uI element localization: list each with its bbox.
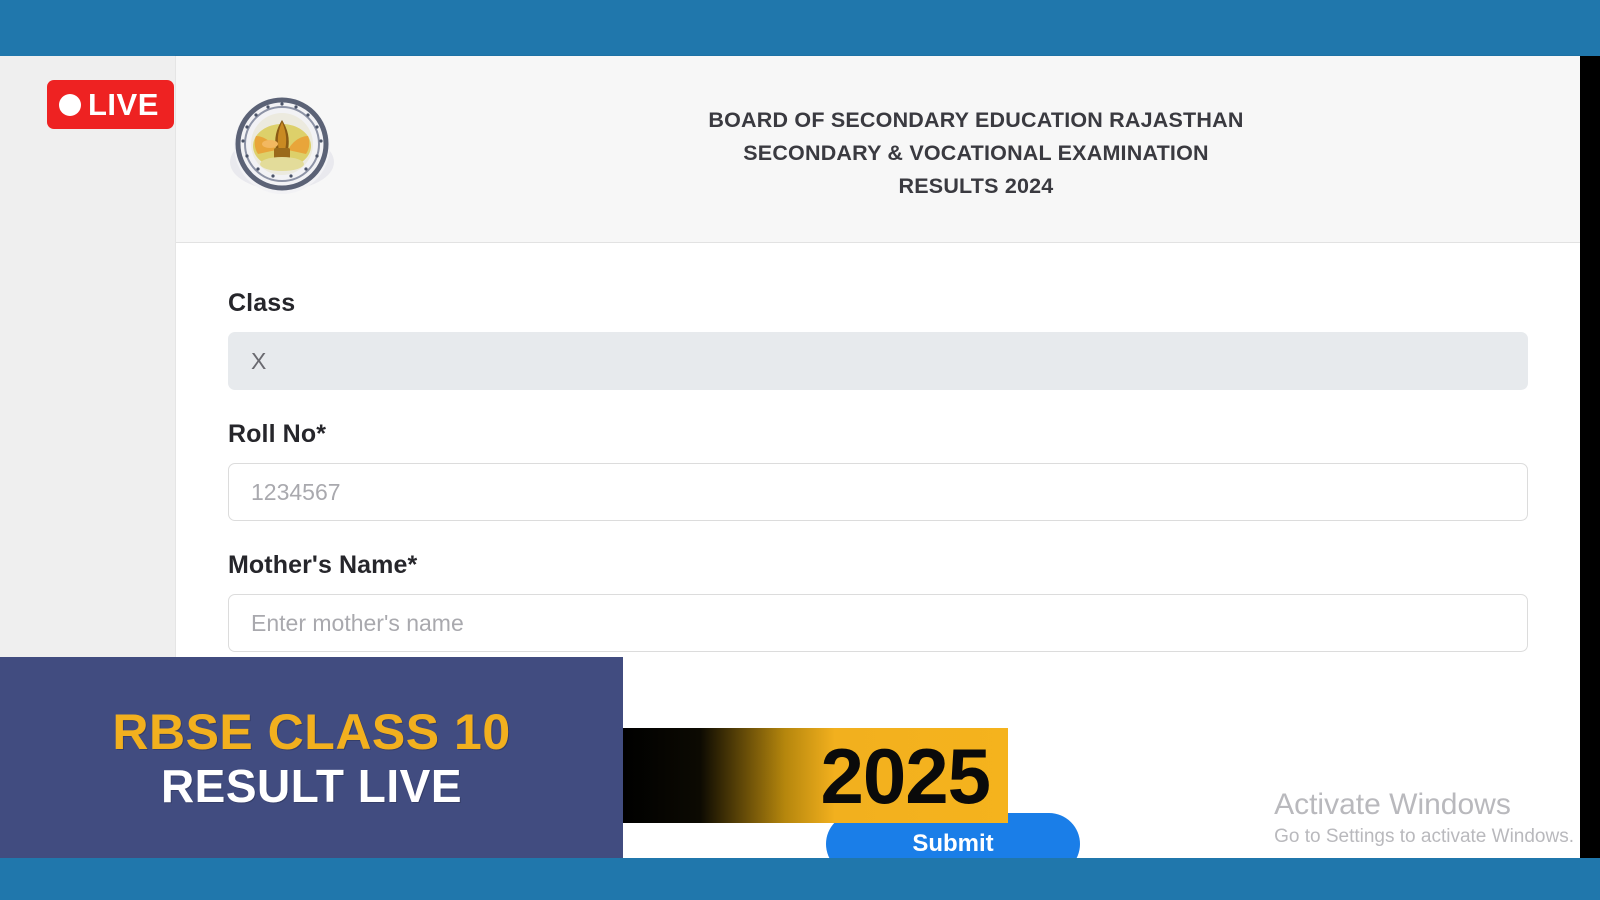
watermark-subtitle: Go to Settings to activate Windows.	[1274, 824, 1574, 850]
field-class: Class X	[228, 289, 1528, 390]
input-mothers-name[interactable]: Enter mother's name	[228, 594, 1528, 652]
record-dot-icon	[59, 94, 81, 116]
label-roll-no: Roll No*	[228, 420, 1528, 449]
live-badge-label: LIVE	[88, 89, 159, 120]
lower-left-banner: RBSE CLASS 10 RESULT LIVE	[0, 657, 623, 858]
header-title-line-1: BOARD OF SECONDARY EDUCATION RAJASTHAN	[476, 104, 1476, 137]
year-badge-label: 2025	[820, 737, 990, 815]
card-header-titles: BOARD OF SECONDARY EDUCATION RAJASTHAN S…	[476, 104, 1476, 203]
input-class[interactable]: X	[228, 332, 1528, 390]
card-header: BOARD OF SECONDARY EDUCATION RAJASTHAN S…	[176, 56, 1580, 243]
header-title-line-3: RESULTS 2024	[476, 170, 1476, 203]
year-badge: 2025	[623, 728, 1008, 823]
right-letterbox-strip	[1580, 56, 1600, 858]
label-class: Class	[228, 289, 1528, 318]
windows-activation-watermark: Activate Windows Go to Settings to activ…	[1274, 786, 1574, 850]
label-mothers-name: Mother's Name*	[228, 551, 1528, 580]
banner-line-1: RBSE CLASS 10	[112, 704, 510, 760]
result-form: Class X Roll No* 1234567 Mother's Name* …	[176, 243, 1580, 652]
field-roll-no: Roll No* 1234567	[228, 420, 1528, 521]
input-roll-no[interactable]: 1234567	[228, 463, 1528, 521]
board-seal-logo-icon	[218, 84, 346, 212]
field-mothers-name: Mother's Name* Enter mother's name	[228, 551, 1528, 652]
banner-line-2: RESULT LIVE	[161, 760, 462, 812]
header-title-line-2: SECONDARY & VOCATIONAL EXAMINATION	[476, 137, 1476, 170]
live-badge: LIVE	[47, 80, 174, 129]
top-frame-bar	[0, 0, 1600, 56]
watermark-title: Activate Windows	[1274, 786, 1574, 824]
bottom-frame-bar	[0, 858, 1600, 900]
screen-root: BOARD OF SECONDARY EDUCATION RAJASTHAN S…	[0, 0, 1600, 900]
